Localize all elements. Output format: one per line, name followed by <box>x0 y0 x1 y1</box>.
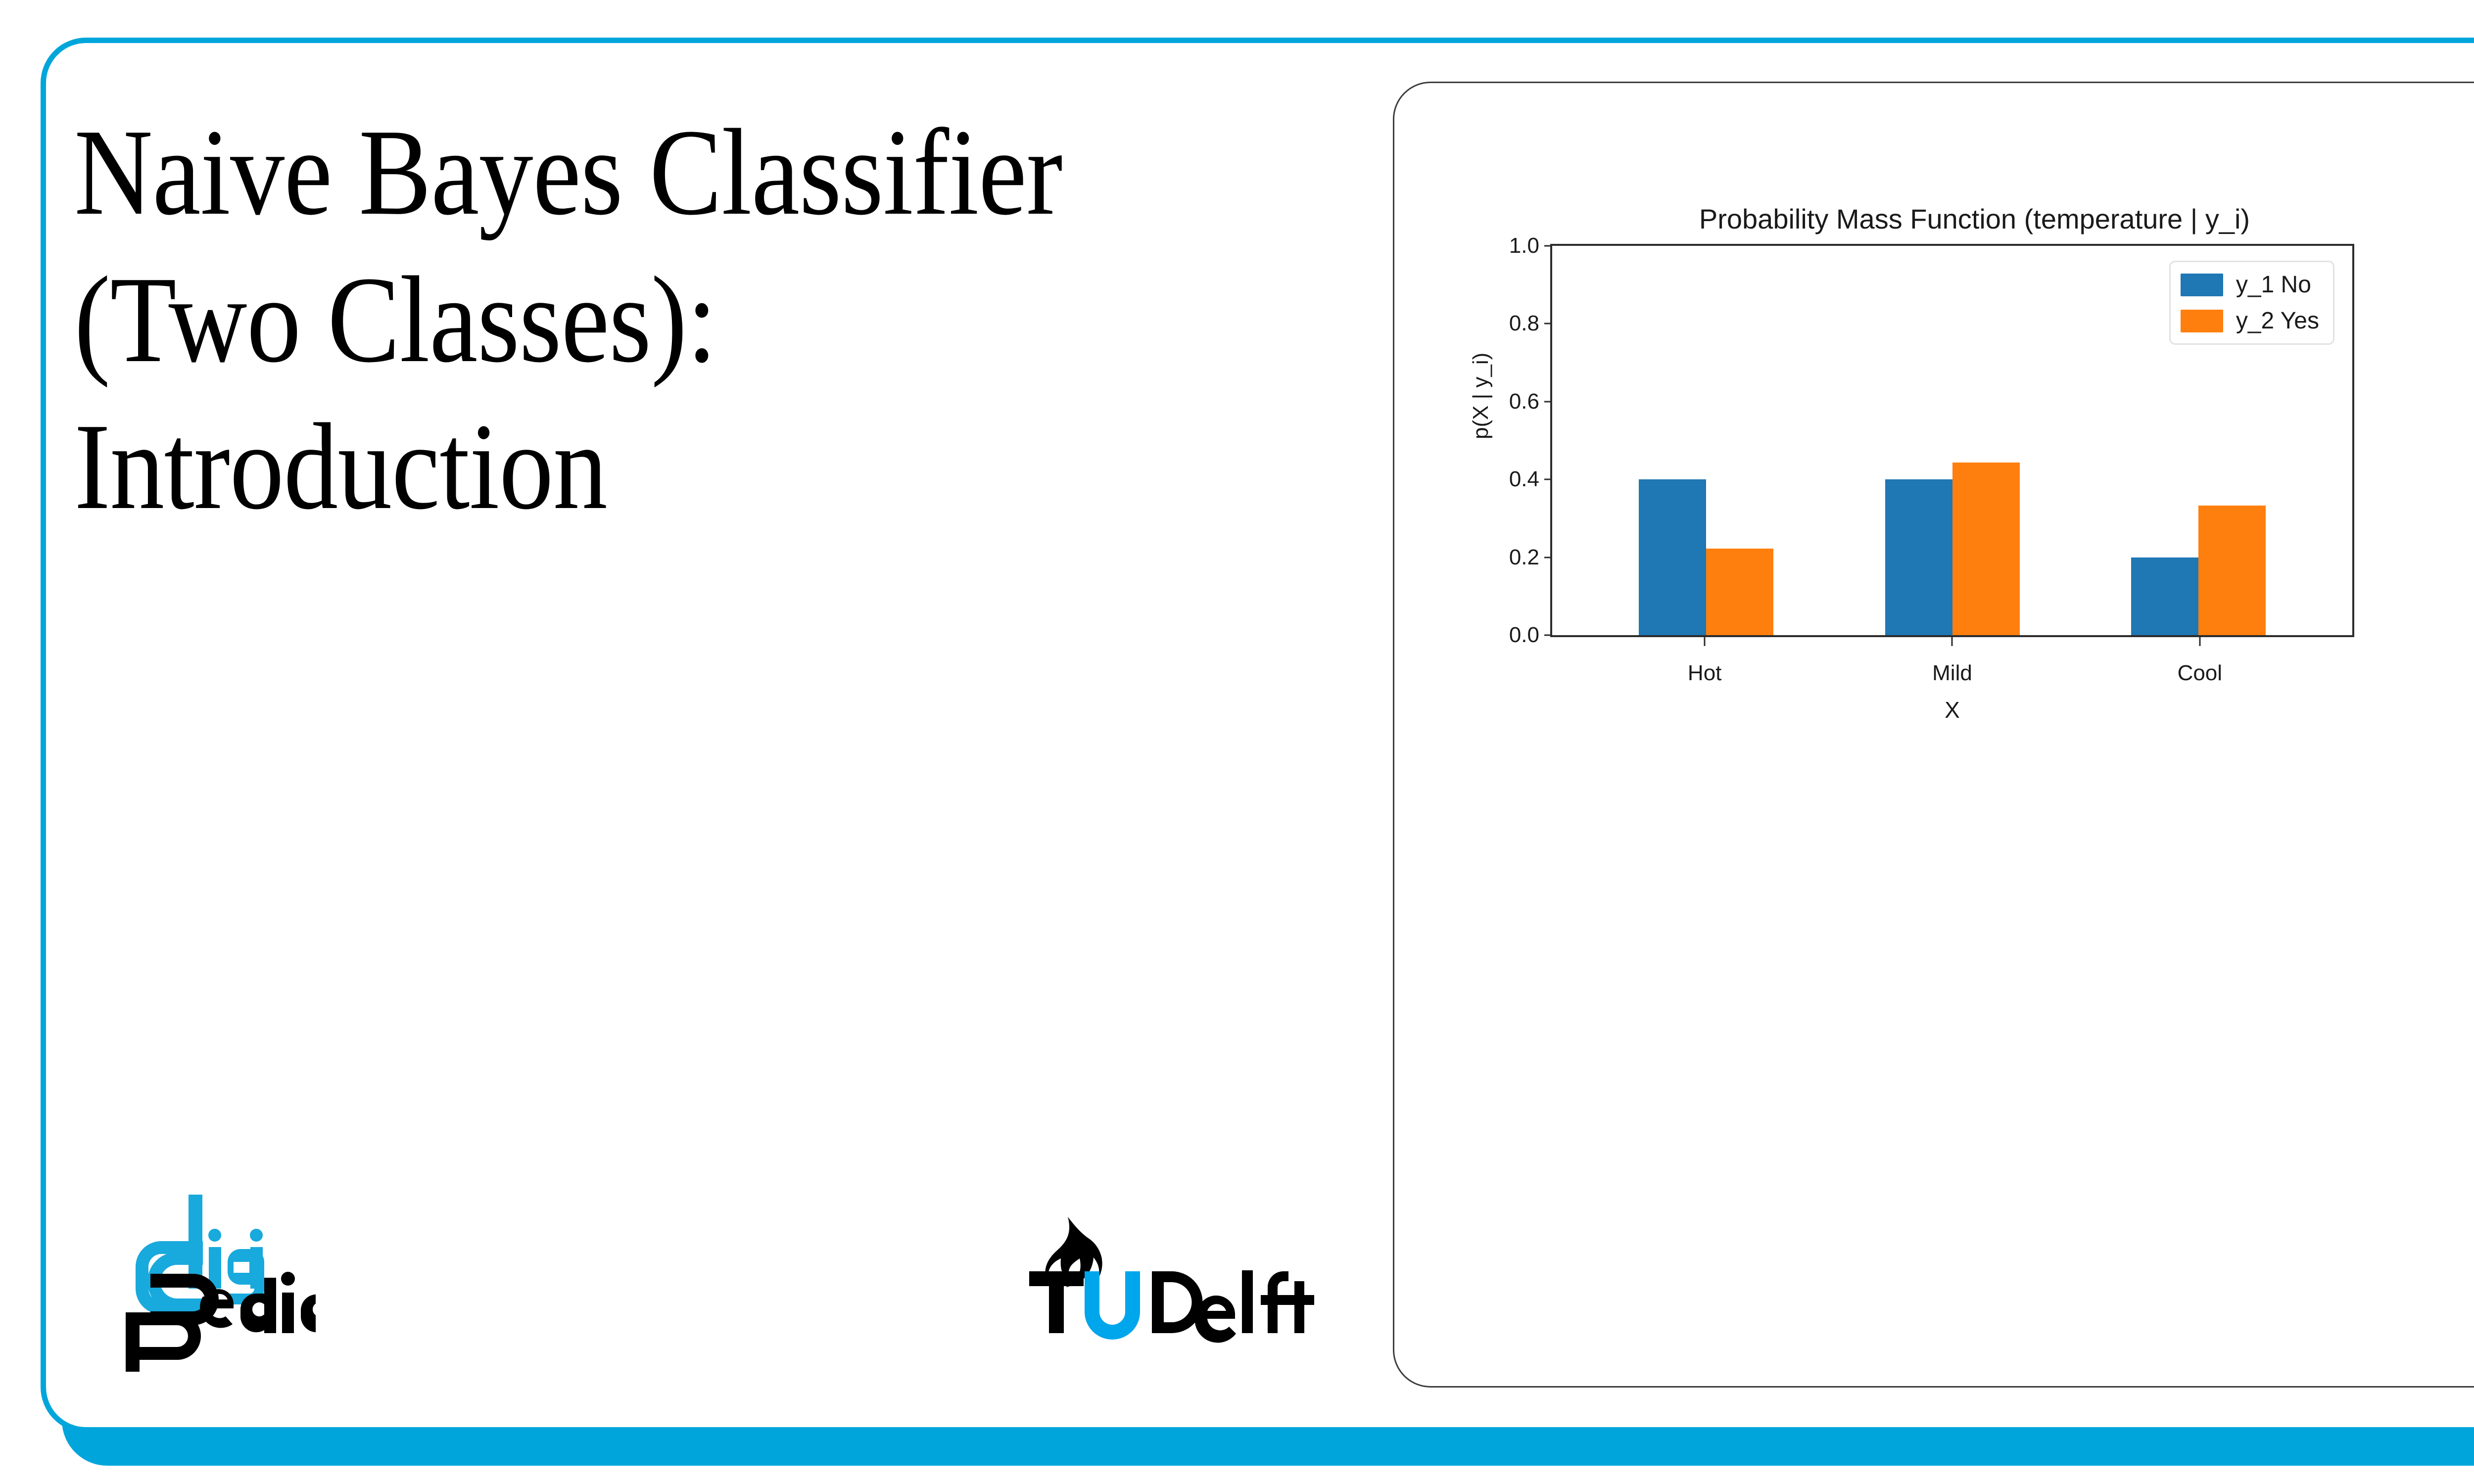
chart-x-axis-label: X <box>1550 696 2354 723</box>
bar-group-hot <box>1583 246 1829 635</box>
x-tick-mild: Mild <box>1828 637 2076 686</box>
legend-label-y1: y_1 No <box>2236 271 2311 298</box>
bar-hot-y2 <box>1706 549 1773 635</box>
bar-mild-y2 <box>1952 463 2020 635</box>
tu-delft-logo-icon <box>1009 1207 1316 1345</box>
bar-cool-y1 <box>2131 557 2198 635</box>
chart-y-axis-label: p(X | y_i) <box>1469 353 1493 439</box>
x-tick-cool: Cool <box>2076 637 2324 686</box>
y-tick-2: 0.4 <box>1509 467 1552 492</box>
legend-swatch-blue <box>2181 274 2223 296</box>
y-tick-1: 0.2 <box>1509 545 1552 570</box>
chart-card: Probability Mass Function (temperature |… <box>1393 82 2474 1388</box>
y-tick-0: 0.0 <box>1509 623 1552 648</box>
plot-area: 0.0 0.2 0.4 0.6 0.8 1.0 y_1 No y_2 Yes <box>1550 244 2354 637</box>
tu-delft-logo <box>1009 1207 1316 1345</box>
digipedia-logo-icon <box>118 1180 316 1378</box>
x-tick-hot: Hot <box>1581 637 1828 686</box>
legend-item-y1: y_1 No <box>2181 271 2319 298</box>
y-tick-5: 1.0 <box>1509 233 1552 258</box>
chart-title: Probability Mass Function (temperature |… <box>1394 203 2474 235</box>
legend-label-y2: y_2 Yes <box>2236 307 2319 334</box>
x-tick-labels: HotMildCool <box>1550 637 2354 686</box>
legend-item-y2: y_2 Yes <box>2181 307 2319 334</box>
y-tick-3: 0.6 <box>1509 389 1552 414</box>
bar-hot-y1 <box>1639 479 1706 635</box>
y-tick-4: 0.8 <box>1509 311 1552 336</box>
chart-figure: Probability Mass Function (temperature |… <box>1394 182 2474 1023</box>
bar-cool-y2 <box>2198 506 2266 635</box>
digipedia-logo <box>118 1180 316 1378</box>
bar-mild-y1 <box>1885 479 1952 635</box>
chart-legend: y_1 No y_2 Yes <box>2169 261 2334 345</box>
bar-group-mild <box>1829 246 2076 635</box>
legend-swatch-orange <box>2181 310 2223 332</box>
page-title: Naive Bayes Classifier (Two Classes): In… <box>74 99 1128 541</box>
